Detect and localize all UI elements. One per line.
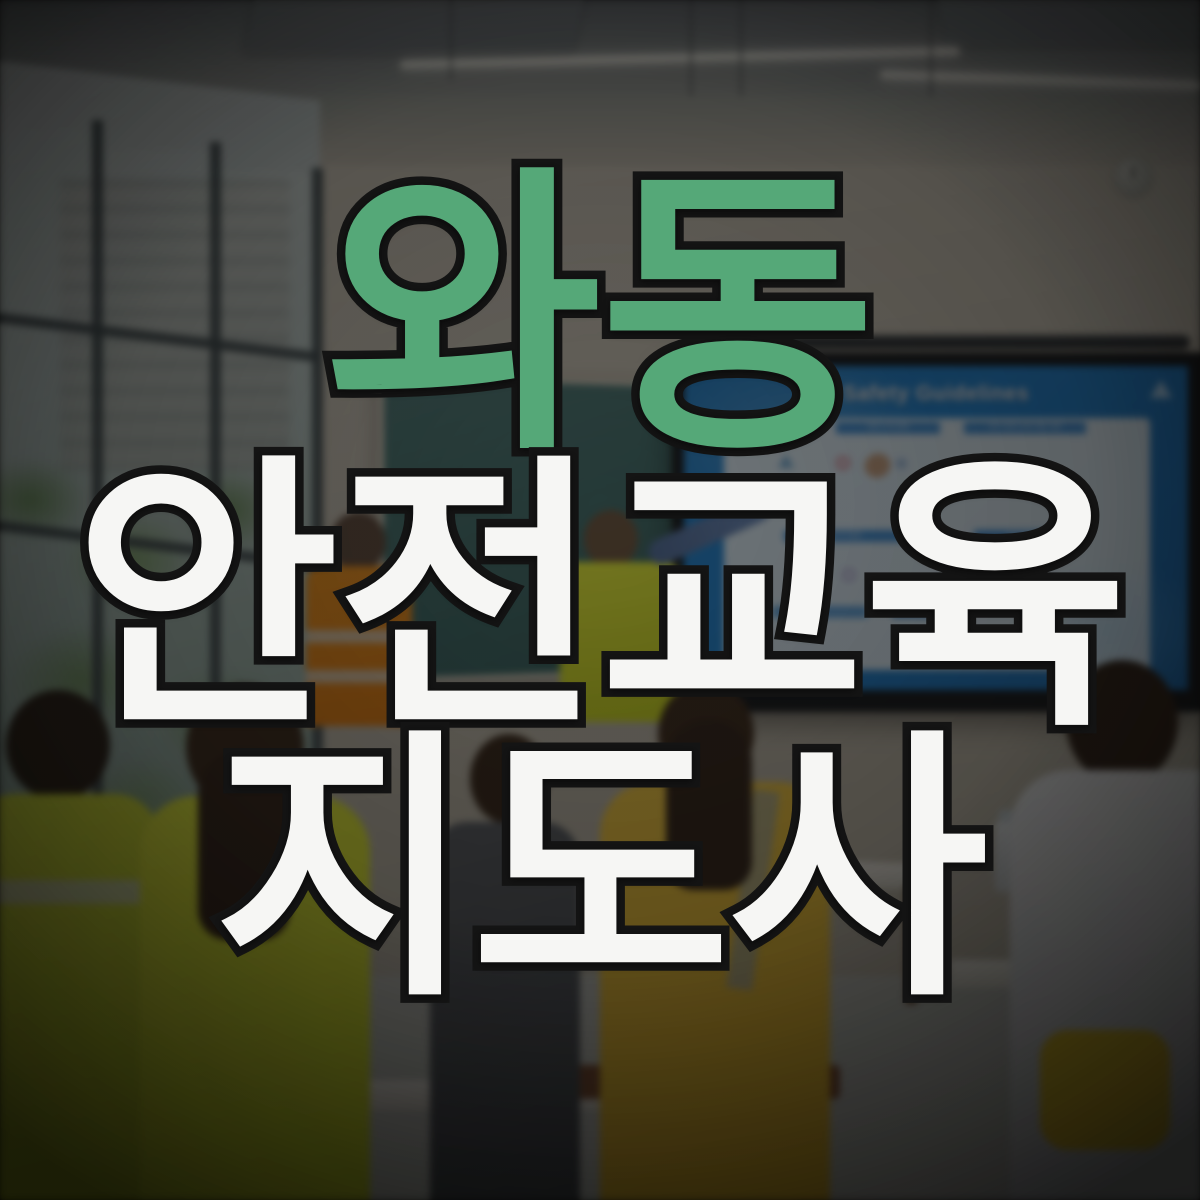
title-overlay: 와동 안전교육 지도사: [0, 0, 1200, 1200]
title-line-role: 지도사: [214, 727, 986, 1015]
title-line-topic: 안전교육: [74, 453, 1126, 747]
title-line-brand: 와동: [326, 163, 874, 469]
thumbnail-card: Safety Guidelines ••••• 안전 수칙 항목 추가 안전 교…: [0, 0, 1200, 1200]
